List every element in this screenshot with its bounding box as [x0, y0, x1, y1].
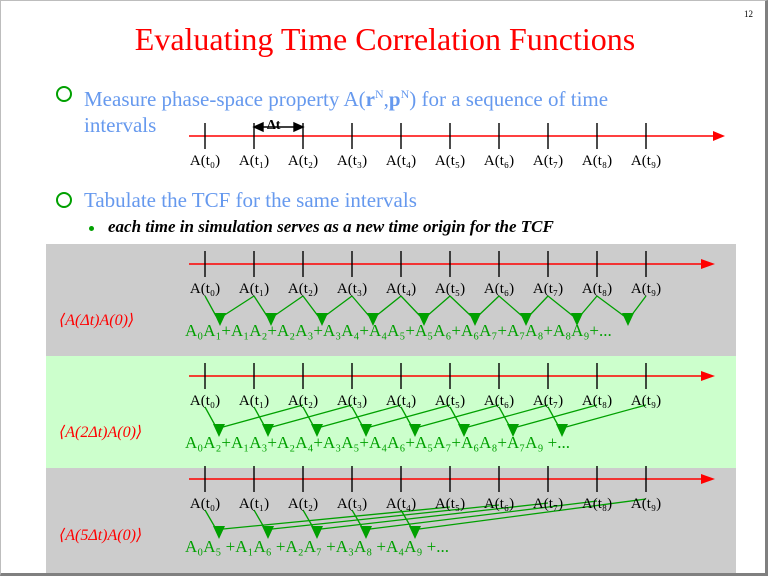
tcf3-tick-label-7: A(t₇)	[533, 496, 563, 513]
tcf3-tick-label-5: A(t₅)	[435, 496, 465, 513]
tcf-row-3-formula: A₀A₅ +A₁A₆ +A₂A₇ +A₃A₈ +A₄A₉ +...	[185, 537, 449, 557]
tcf3-tick-label-0: A(t₀)	[190, 496, 220, 513]
tcf-row-3-label: ⟨A(5Δt)A(0)⟩	[59, 525, 142, 545]
tcf3-arrowhead	[701, 474, 715, 484]
slide-canvas: 12 Evaluating Time Correlation Functions…	[0, 0, 768, 576]
tcf3-tick-label-6: A(t₆)	[484, 496, 514, 513]
tcf3-tick-label-9: A(t₉)	[631, 496, 661, 513]
tcf3-tick-label-8: A(t₈)	[582, 496, 612, 513]
tcf-row-3-graphic	[1, 1, 768, 577]
tcf3-tick-label-1: A(t₁)	[239, 496, 269, 513]
tcf3-pair-arrows	[205, 499, 646, 529]
tcf3-tick-label-4: A(t₄)	[386, 496, 416, 513]
tcf3-tick-label-2: A(t₂)	[288, 496, 318, 513]
tcf3-tick-label-3: A(t₃)	[337, 496, 367, 513]
